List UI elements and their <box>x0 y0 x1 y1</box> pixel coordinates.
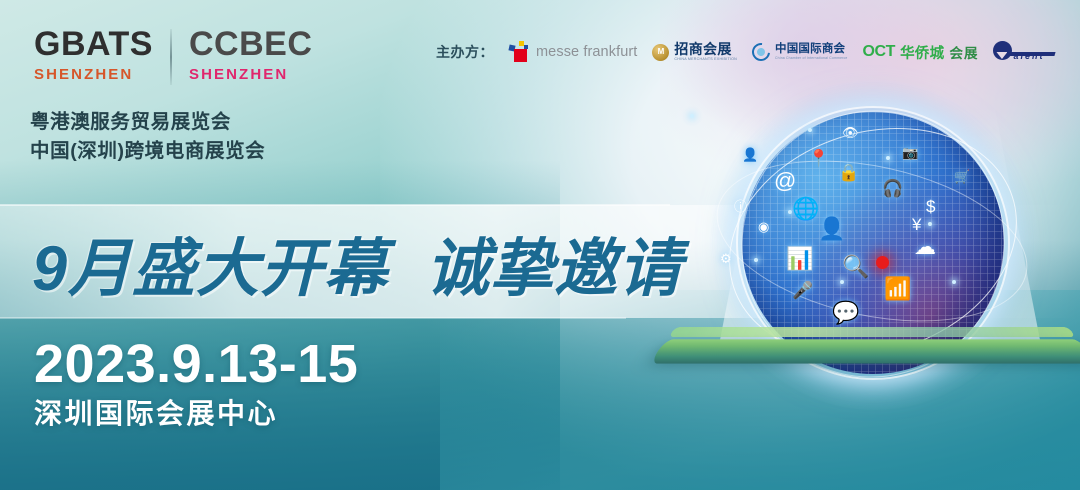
gbats-logo: GBATS SHENZHEN <box>34 27 153 83</box>
share-icon: ⚙ <box>720 252 732 265</box>
network-node <box>840 280 844 284</box>
talent-logo-icon: alent <box>993 40 1057 64</box>
subtitle-line-2: 中国(深圳)跨境电商展览会 <box>30 137 265 166</box>
china-merchants-en-text: CHINA MERCHANTS EXHIBITION <box>674 58 737 62</box>
network-node <box>808 128 812 132</box>
search-icon: 🔍 <box>842 256 869 278</box>
at-icon: @ <box>774 170 796 192</box>
sponsor-row: 主办方： messe frankfurt M 招商会展 CHINA MERCHA… <box>436 40 1057 64</box>
china-merchants-wordmark: 招商会展 CHINA MERCHANTS EXHIBITION <box>674 42 737 61</box>
gbats-wordmark: GBATS <box>34 27 153 62</box>
sponsor-china-merchants-exhibition: M 招商会展 CHINA MERCHANTS EXHIBITION <box>652 42 737 61</box>
dollar-icon: $ <box>926 198 935 215</box>
ccoic-cn-text: 中国国际商会 <box>775 44 847 56</box>
chat-icon: 💬 <box>832 302 859 324</box>
sponsor-messe-frankfurt: messe frankfurt <box>509 41 637 63</box>
sponsor-ccoic: 中国国际商会 China Chamber of International Co… <box>752 43 847 61</box>
location-pin-icon: 📍 <box>808 150 829 167</box>
eye-icon: 👁 <box>842 126 859 139</box>
headline-part-1: 9月盛大开幕 <box>32 218 388 309</box>
china-merchants-cn-text: 招商会展 <box>674 42 737 56</box>
globe-icon: 🌐 <box>792 198 819 220</box>
yen-icon: ¥ <box>912 216 921 233</box>
event-date: 2023.9.13-15 <box>34 337 358 391</box>
talent-wordmark: alent <box>1013 51 1044 61</box>
camera-icon: 📷 <box>902 146 918 159</box>
messe-frankfurt-wordmark: messe frankfurt <box>536 44 637 60</box>
oct-wordmark: OCT <box>862 43 895 61</box>
china-merchants-emblem-icon: M <box>652 44 669 61</box>
lock-icon: 🔒 <box>838 164 859 181</box>
main-headline: 9月盛大开幕 诚挚邀请 <box>32 218 682 309</box>
messe-frankfurt-icon <box>509 41 531 63</box>
tablet-screen <box>668 327 1075 337</box>
network-node <box>886 156 890 160</box>
info-icon: ⓘ <box>734 200 747 213</box>
person-head-icon: 👤 <box>818 218 845 240</box>
network-icon: ◉ <box>758 220 769 233</box>
network-node <box>754 258 758 262</box>
headline-band-bottom-edge <box>0 317 626 319</box>
event-banner: GBATS SHENZHEN CCBEC SHENZHEN 粤港澳服务贸易展览会… <box>0 0 1080 490</box>
logo-divider <box>170 29 172 85</box>
ccbec-wordmark: CCBEC <box>189 27 312 62</box>
shopping-cart-icon: 🛒 <box>954 170 970 183</box>
ccoic-en-text: China Chamber of International Commerce <box>775 57 847 60</box>
ccbec-city-label: SHENZHEN <box>189 66 312 83</box>
ccoic-wordmark: 中国国际商会 China Chamber of International Co… <box>775 44 847 60</box>
tablet-device <box>649 339 1080 363</box>
event-venue: 深圳国际会展中心 <box>34 400 278 428</box>
bar-chart-icon: 📊 <box>786 248 813 270</box>
sponsor-oct-exhibition: OCT 华侨城 会展 <box>862 42 978 63</box>
cloud-icon: ☁ <box>914 236 936 258</box>
network-node <box>690 114 694 118</box>
exhibition-subtitle: 粤港澳服务贸易展览会 中国(深圳)跨境电商展览会 <box>30 108 265 166</box>
organizer-label: 主办方： <box>436 42 494 62</box>
microphone-icon: 🎤 <box>792 282 813 299</box>
network-node <box>928 222 932 226</box>
brand-logo-lockup: GBATS SHENZHEN CCBEC SHENZHEN <box>34 27 312 85</box>
subtitle-line-1: 粤港澳服务贸易展览会 <box>30 108 265 137</box>
ccbec-logo: CCBEC SHENZHEN <box>189 27 312 83</box>
headline-part-2: 诚挚邀请 <box>426 218 682 309</box>
sponsor-talent: alent <box>993 40 1057 64</box>
ccoic-emblem-icon <box>748 39 773 64</box>
user-icon: 👤 <box>742 148 758 161</box>
oct-exhibition-text: 会展 <box>949 42 978 62</box>
network-node <box>952 280 956 284</box>
globe-artwork: 👤 @ 📍 👁 🔒 📷 🌐 ⓘ ◉ 🎧 🛒 $ ¥ 👤 📊 🔍 🎤 📶 💬 ☁ … <box>690 70 1080 490</box>
headphones-icon: 🎧 <box>882 180 903 197</box>
gbats-city-label: SHENZHEN <box>34 66 153 83</box>
wifi-icon: 📶 <box>884 278 911 300</box>
alert-dot-icon <box>876 256 889 269</box>
oct-cn-text: 华侨城 <box>900 42 944 63</box>
